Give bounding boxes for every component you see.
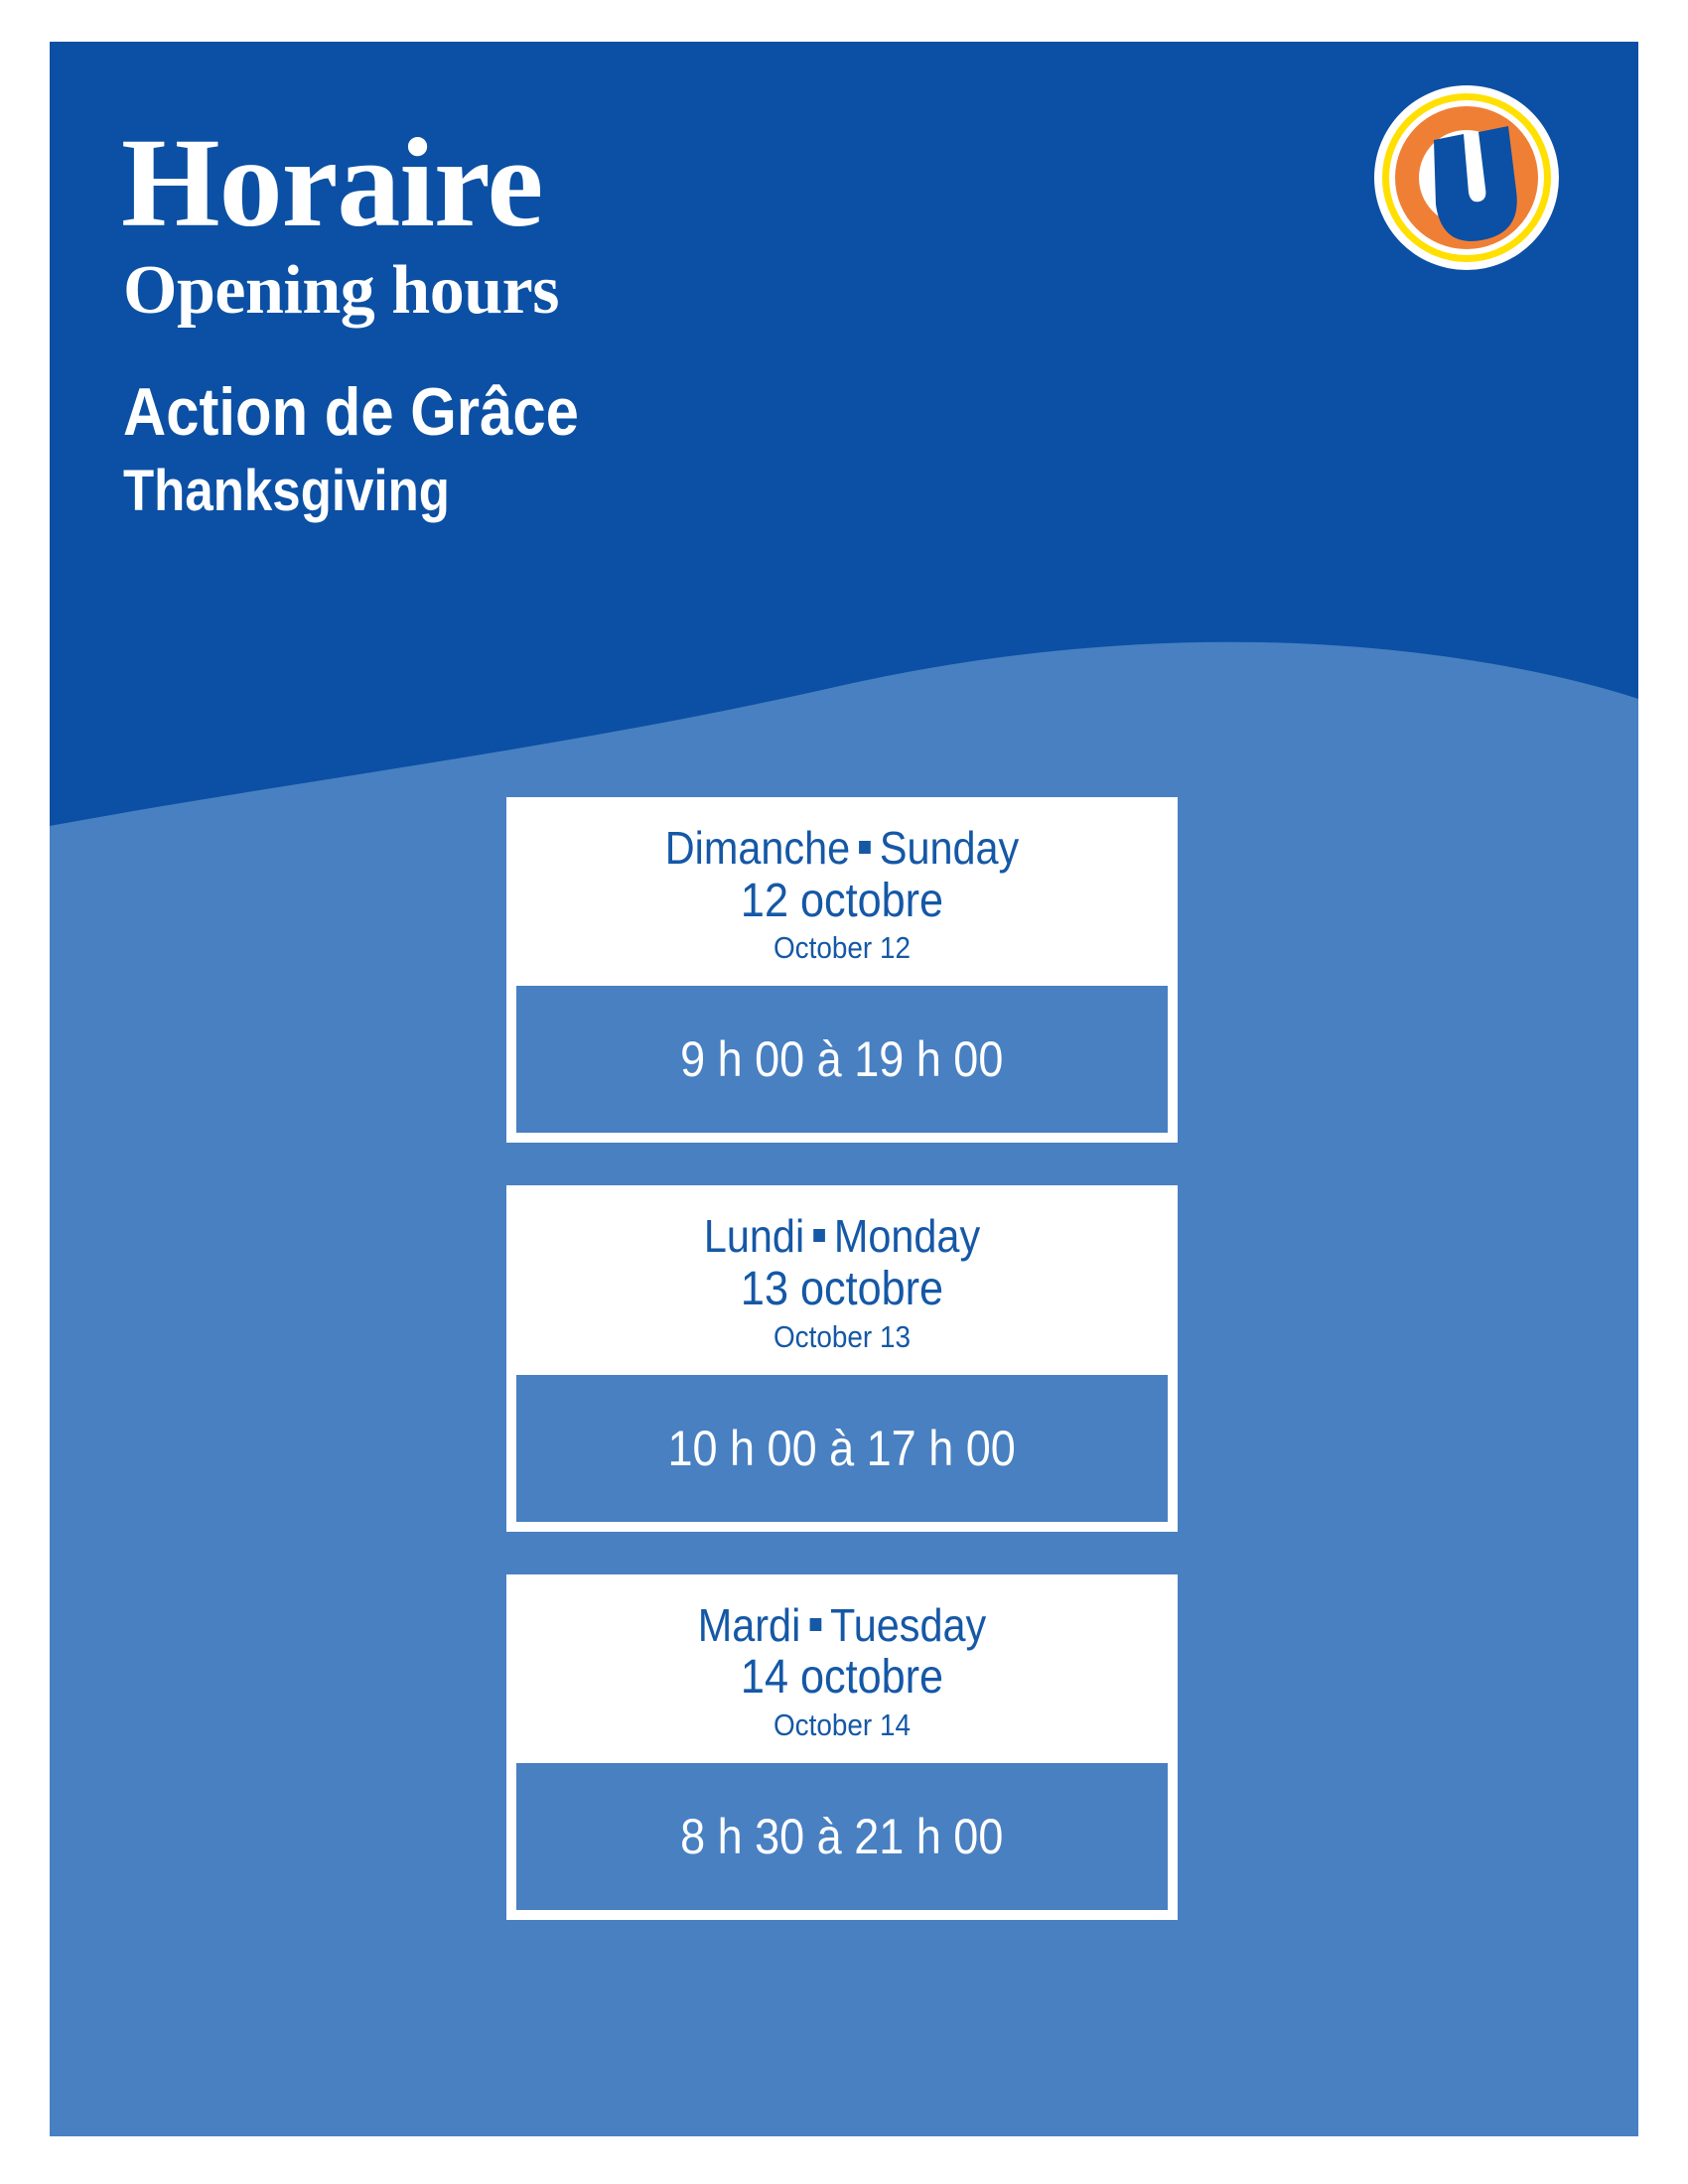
schedule-card-header: LundiMonday 13 octobre October 13 [506,1185,1178,1364]
date-en: October 13 [540,1318,1144,1355]
poster-canvas: Horaire Opening hours Action de Grâce Th… [50,42,1638,2136]
brand-logo [1372,83,1561,272]
day-name-line: LundiMonday [540,1211,1144,1263]
separator-square-icon [809,1618,821,1631]
schedule-card-list: DimancheSunday 12 octobre October 12 9 h… [506,797,1178,1963]
opening-hours-band: 8 h 30 à 21 h 00 [516,1763,1168,1910]
day-name-en: Monday [834,1210,980,1262]
header-text-block: Horaire Opening hours Action de Grâce Th… [121,119,1114,522]
day-name-fr: Mardi [698,1599,801,1651]
date-fr: 14 octobre [540,1651,1144,1705]
day-name-fr: Lundi [704,1210,804,1262]
date-fr: 13 octobre [540,1263,1144,1316]
opening-hours-text: 8 h 30 à 21 h 00 [680,1808,1003,1865]
separator-square-icon [813,1229,825,1242]
schedule-card-header: DimancheSunday 12 octobre October 12 [506,797,1178,976]
opening-hours-band: 9 h 00 à 19 h 00 [516,986,1168,1133]
schedule-card: LundiMonday 13 octobre October 13 10 h 0… [506,1185,1178,1531]
opening-hours-band: 10 h 00 à 17 h 00 [516,1375,1168,1522]
date-fr: 12 octobre [540,875,1144,928]
page-title-fr: Horaire [121,119,1114,246]
day-name-en: Tuesday [830,1599,986,1651]
occasion-title-en: Thanksgiving [123,462,995,522]
day-name-line: DimancheSunday [540,823,1144,875]
day-name-en: Sunday [880,822,1019,874]
opening-hours-text: 10 h 00 à 17 h 00 [668,1420,1016,1477]
couche-tard-u-logo-icon [1372,83,1561,272]
schedule-card: DimancheSunday 12 octobre October 12 9 h… [506,797,1178,1143]
opening-hours-text: 9 h 00 à 19 h 00 [680,1030,1003,1088]
date-en: October 14 [540,1706,1144,1743]
schedule-card-header: MardiTuesday 14 octobre October 14 [506,1574,1178,1753]
date-en: October 12 [540,929,1144,966]
day-name-line: MardiTuesday [540,1600,1144,1652]
occasion-title-fr: Action de Grâce [123,377,995,448]
day-name-fr: Dimanche [665,822,850,874]
page-title-en: Opening hours [123,254,1114,328]
schedule-card: MardiTuesday 14 octobre October 14 8 h 3… [506,1574,1178,1920]
separator-square-icon [859,841,871,854]
